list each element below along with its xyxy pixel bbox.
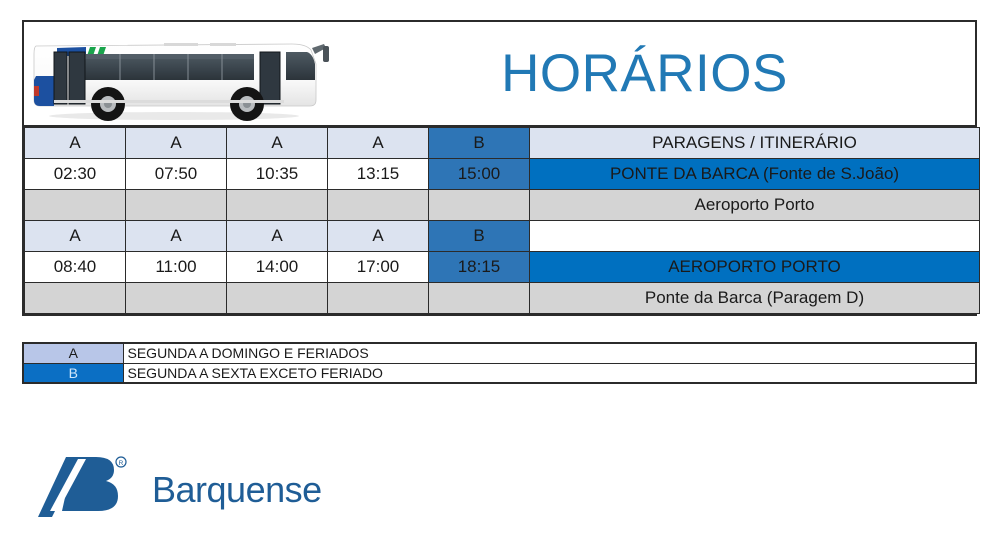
table-row: 02:30 07:50 10:35 13:15 15:00 PONTE DA B… xyxy=(25,159,980,190)
spacer-cell xyxy=(25,190,126,221)
legend-description: SEGUNDA A DOMINGO E FERIADOS xyxy=(123,343,976,363)
route-origin-stop: AEROPORTO PORTO xyxy=(530,252,980,283)
departure-time-cell: 02:30 xyxy=(25,159,126,190)
legend-description: SEGUNDA A SEXTA EXCETO FERIADO xyxy=(123,363,976,383)
departure-time-cell: 18:15 xyxy=(429,252,530,283)
service-code-cell: A xyxy=(227,221,328,252)
legend-code-swatch: B xyxy=(23,363,123,383)
spacer-cell xyxy=(25,283,126,314)
sheet-header: HORÁRIOS xyxy=(24,22,975,127)
table-row: A A A A B xyxy=(25,221,980,252)
spacer-cell xyxy=(227,283,328,314)
brand-name: Barquense xyxy=(152,469,322,511)
stops-column-header: PARAGENS / ITINERÁRIO xyxy=(530,128,980,159)
departure-time-cell: 07:50 xyxy=(126,159,227,190)
spacer-cell xyxy=(126,283,227,314)
service-code-cell: A xyxy=(25,221,126,252)
departure-time-cell: 15:00 xyxy=(429,159,530,190)
table-row: Aeroporto Porto xyxy=(25,190,980,221)
page-title: HORÁRIOS xyxy=(354,47,975,100)
spacer-cell xyxy=(328,190,429,221)
service-code-cell: B xyxy=(429,221,530,252)
legend-code-swatch: A xyxy=(23,343,123,363)
service-code-cell: A xyxy=(328,221,429,252)
spacer-cell xyxy=(429,283,530,314)
timetable-sheet: HORÁRIOS A A A A B PARAGENS / ITINERÁRIO… xyxy=(22,20,977,316)
departure-time-cell: 10:35 xyxy=(227,159,328,190)
service-code-cell: A xyxy=(126,221,227,252)
brand-block: R Barquense xyxy=(38,455,322,524)
legend-row: B SEGUNDA A SEXTA EXCETO FERIADO xyxy=(23,363,976,383)
service-code-cell: A xyxy=(328,128,429,159)
spacer-cell xyxy=(429,190,530,221)
departure-time-cell: 13:15 xyxy=(328,159,429,190)
service-code-cell: A xyxy=(25,128,126,159)
spacer-cell xyxy=(126,190,227,221)
service-code-cell: A xyxy=(227,128,328,159)
departure-time-cell: 14:00 xyxy=(227,252,328,283)
barquense-b-logo-icon: R xyxy=(38,455,134,524)
departure-time-cell: 11:00 xyxy=(126,252,227,283)
service-code-cell: A xyxy=(126,128,227,159)
svg-text:R: R xyxy=(119,460,124,467)
route-destination-stop: Ponte da Barca (Paragem D) xyxy=(530,283,980,314)
schedule-grid: A A A A B PARAGENS / ITINERÁRIO 02:30 07… xyxy=(24,127,980,314)
table-row: A A A A B PARAGENS / ITINERÁRIO xyxy=(25,128,980,159)
bus-side-view-icon xyxy=(24,24,354,124)
table-row: 08:40 11:00 14:00 17:00 18:15 AEROPORTO … xyxy=(25,252,980,283)
departure-time-cell: 17:00 xyxy=(328,252,429,283)
departure-time-cell: 08:40 xyxy=(25,252,126,283)
legend-table: A SEGUNDA A DOMINGO E FERIADOS B SEGUNDA… xyxy=(22,342,977,384)
route-origin-stop: PONTE DA BARCA (Fonte de S.João) xyxy=(530,159,980,190)
spacer-cell xyxy=(530,221,980,252)
legend-row: A SEGUNDA A DOMINGO E FERIADOS xyxy=(23,343,976,363)
table-row: Ponte da Barca (Paragem D) xyxy=(25,283,980,314)
spacer-cell xyxy=(328,283,429,314)
route-destination-stop: Aeroporto Porto xyxy=(530,190,980,221)
spacer-cell xyxy=(227,190,328,221)
service-code-cell: B xyxy=(429,128,530,159)
